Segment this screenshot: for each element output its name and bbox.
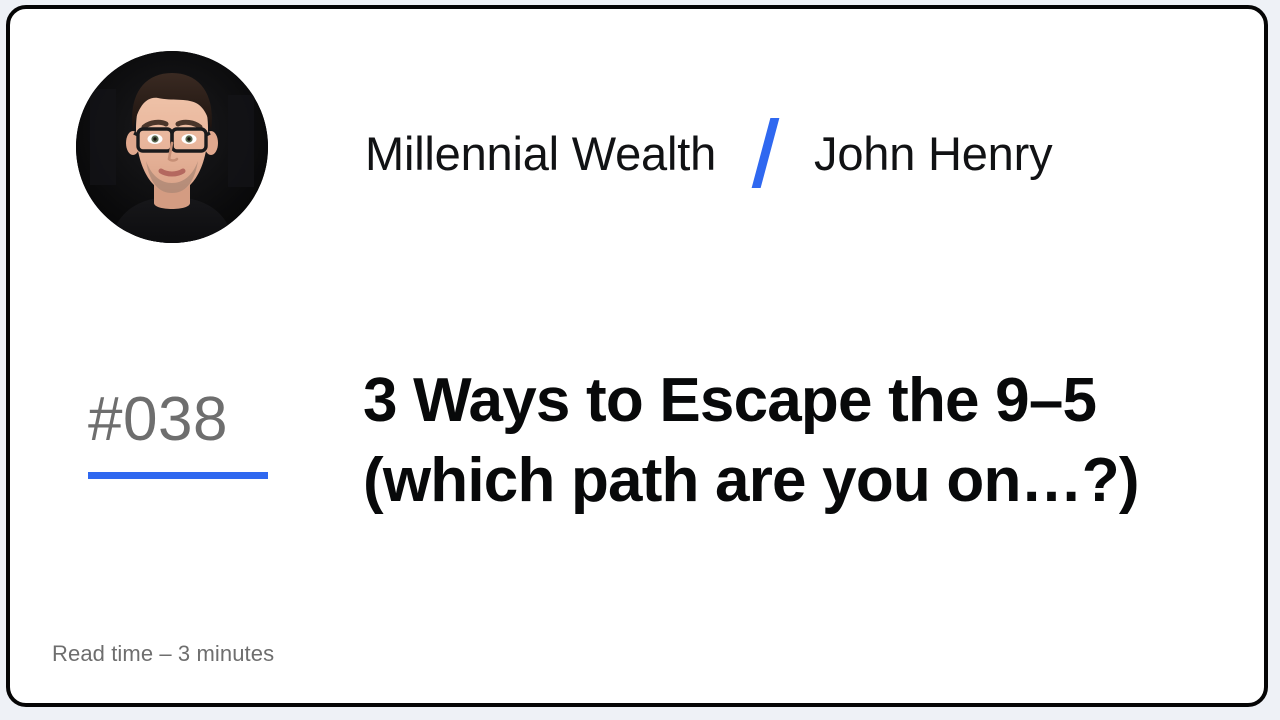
slash-divider-icon — [750, 118, 780, 188]
author-portrait-icon — [76, 51, 268, 243]
brand-row: Millennial Wealth John Henry — [365, 117, 1052, 189]
issue-block: #038 — [88, 389, 288, 479]
newsletter-card: Millennial Wealth John Henry #038 3 Ways… — [6, 5, 1268, 707]
headline-line-2: (which path are you on…?) — [363, 441, 1223, 521]
read-time-label: Read time – 3 minutes — [52, 641, 274, 667]
page-title: 3 Ways to Escape the 9–5 (which path are… — [363, 361, 1223, 521]
headline-line-1: 3 Ways to Escape the 9–5 — [363, 361, 1223, 441]
author-name: John Henry — [814, 130, 1052, 177]
issue-underline-rule — [88, 472, 268, 479]
issue-number: #038 — [88, 389, 288, 451]
avatar — [76, 51, 268, 243]
publication-name: Millennial Wealth — [365, 130, 716, 177]
